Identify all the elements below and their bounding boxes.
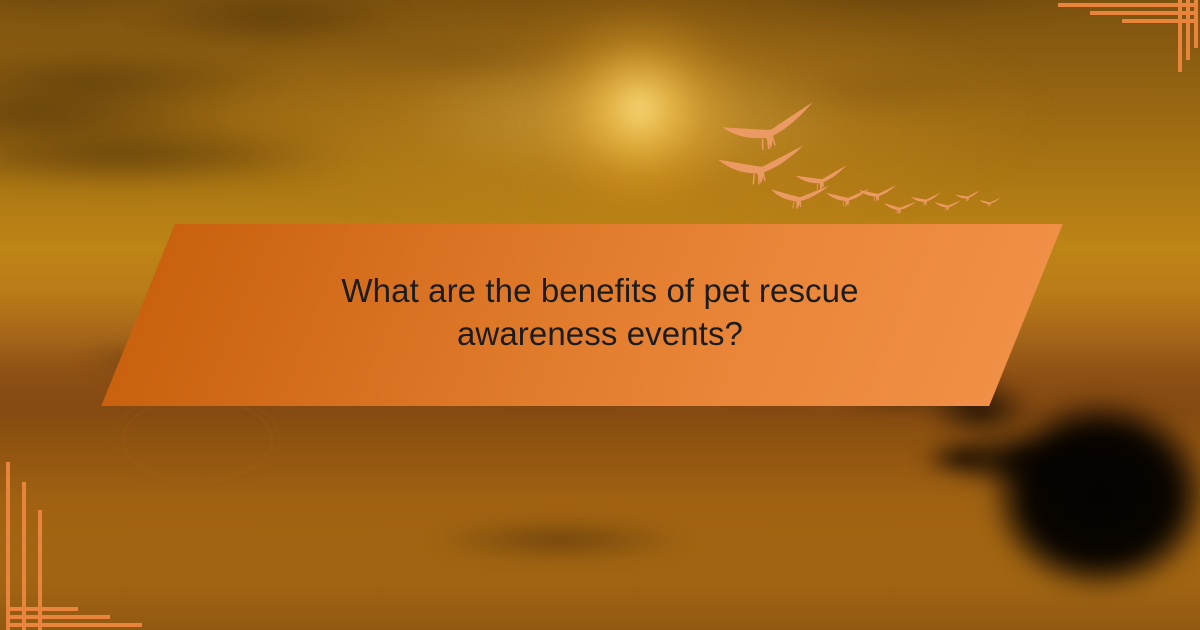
- bird-7: [884, 201, 917, 214]
- bird-6: [859, 185, 898, 204]
- vertical-line-3: [38, 510, 42, 630]
- bird-4: [771, 185, 831, 210]
- bird-8: [911, 192, 942, 207]
- headline-line-1: What are the benefits of pet rescue: [341, 273, 858, 310]
- headline-banner: What are the benefits of pet rescue awar…: [0, 224, 1200, 406]
- horizontal-line-1: [6, 623, 142, 627]
- vertical-line-2: [1186, 0, 1190, 60]
- bird-9: [935, 200, 962, 212]
- horizontal-line-3: [1122, 19, 1194, 23]
- headline-line-2: awareness events?: [457, 316, 743, 353]
- vertical-line-1: [6, 462, 10, 630]
- bird-2: [718, 145, 809, 191]
- vertical-line-1: [1178, 0, 1182, 72]
- vertical-line-3: [1194, 0, 1198, 48]
- horizontal-line-1: [1058, 3, 1194, 7]
- horizontal-line-3: [6, 607, 78, 611]
- corner-ornament-bottom-left: [0, 430, 400, 630]
- headline-text-block: What are the benefits of pet rescue awar…: [0, 224, 1200, 406]
- corner-ornament-top-right: [0, 0, 1200, 120]
- bird-11: [980, 198, 1001, 208]
- question-card: What are the benefits of pet rescue awar…: [0, 0, 1200, 630]
- vertical-line-2: [22, 482, 26, 630]
